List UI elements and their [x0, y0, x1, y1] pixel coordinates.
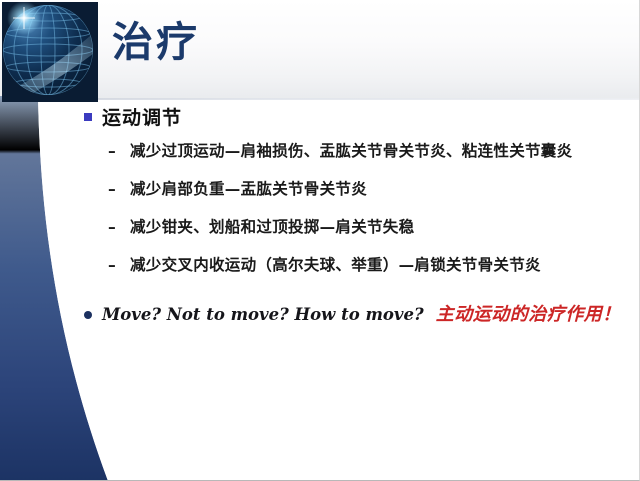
slide-canvas: 治疗 运动调节 – 减少过顶运动—肩袖损伤、盂肱关节骨关节炎、粘连性关节囊炎 –…: [0, 0, 640, 481]
bullet-level1: 运动调节: [84, 105, 640, 131]
list-item: – 减少交叉内收运动（高尔夫球、举重）—肩锁关节骨关节炎: [108, 252, 626, 279]
list-item-label: 减少肩部负重—盂肱关节骨关节炎: [130, 180, 367, 198]
final-line-chinese: 主动运动的治疗作用！: [436, 304, 621, 325]
sub-bullet-list: – 减少过顶运动—肩袖损伤、盂肱关节骨关节炎、粘连性关节囊炎 – 减少肩部负重—…: [0, 138, 640, 279]
list-item-label: 减少交叉内收运动（高尔夫球、举重）—肩锁关节骨关节炎: [130, 256, 541, 274]
square-bullet-icon: [84, 113, 92, 121]
page-title: 治疗: [112, 22, 200, 63]
dash-bullet-icon: –: [108, 252, 119, 279]
list-item: – 减少过顶运动—肩袖损伤、盂肱关节骨关节炎、粘连性关节囊炎: [108, 138, 626, 165]
final-emphasis-line: Move? Not to move? How to move? 主动运动的治疗作…: [84, 303, 640, 327]
bullet-level1-label: 运动调节: [102, 107, 182, 129]
final-line-english: Move? Not to move? How to move?: [102, 305, 424, 324]
list-item-label: 减少钳夹、划船和过顶投掷—肩关节失稳: [130, 218, 414, 236]
round-bullet-icon: [84, 311, 92, 319]
list-item: – 减少钳夹、划船和过顶投掷—肩关节失稳: [108, 214, 626, 241]
dash-bullet-icon: –: [108, 176, 119, 203]
list-item: – 减少肩部负重—盂肱关节骨关节炎: [108, 176, 626, 203]
dash-bullet-icon: –: [108, 214, 119, 241]
dash-bullet-icon: –: [108, 138, 119, 165]
slide-body: 运动调节 – 减少过顶运动—肩袖损伤、盂肱关节骨关节炎、粘连性关节囊炎 – 减少…: [0, 105, 640, 327]
list-item-label: 减少过顶运动—肩袖损伤、盂肱关节骨关节炎、粘连性关节囊炎: [130, 142, 572, 160]
globe-icon: [2, 2, 98, 102]
